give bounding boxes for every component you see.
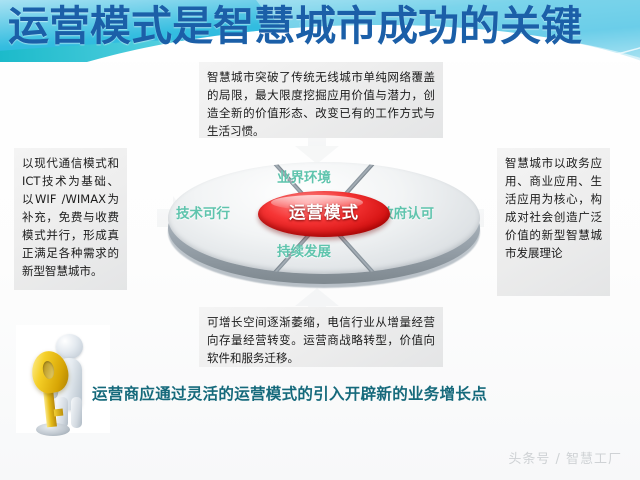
key-shaft [43,389,57,428]
figure-leg [71,397,82,428]
center-node: 运营模式 [258,191,390,237]
operating-model-diagram: 业界环境 政府认可 持续发展 技术可行 运营模式 [158,148,488,300]
callout-right: 智慧城市以政务应用、商业应用、生活应用为核心，构成对社会创造广泛价值的新型智慧城… [497,148,610,296]
page-title: 运营模式是智慧城市成功的关键 [8,0,636,54]
callout-left: 以现代通信模式和ICT技术为基础、以WIF /WIMAX为补充，免费与收费模式并… [14,148,127,290]
slide-canvas: 运营模式是智慧城市成功的关键 智慧城市突破了传统无线城市单纯网络覆盖的局限，最大… [0,0,640,480]
key-tooth [54,409,64,417]
callout-bottom: 可增长空间逐渐萎缩，电信行业从增量经营向存量经营转变。运营商战略转型，价值向软件… [199,307,443,367]
key-icon [30,351,70,429]
watermark: 头条号 / 智慧工厂 [508,448,622,467]
segment-label-bottom: 持续发展 [277,240,331,260]
center-node-label: 运营模式 [258,191,390,237]
segment-label-left: 技术可行 [176,202,230,222]
segment-label-top: 业界环境 [277,166,331,186]
callout-top: 智慧城市突破了传统无线城市单纯网络覆盖的局限，最大限度挖掘应用价值与潜力，创造全… [199,62,443,138]
bottom-caption: 运营商应通过灵活的运营模式的引入开辟新的业务增长点 [92,382,612,404]
